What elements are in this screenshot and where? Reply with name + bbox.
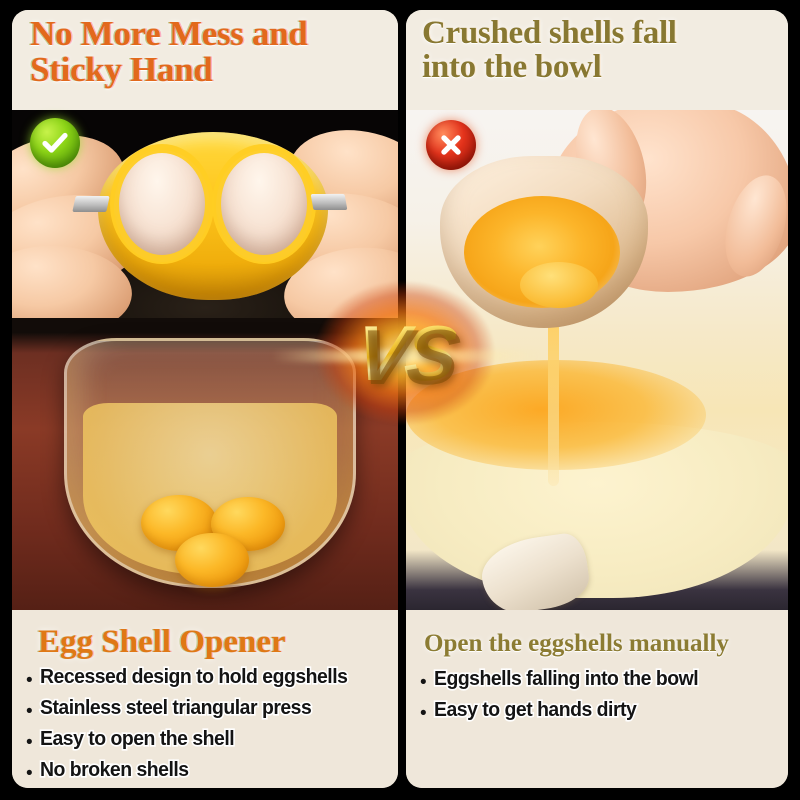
list-item: • Easy to get hands dirty (420, 699, 788, 723)
bullet-icon: • (26, 733, 33, 752)
bullet-icon: • (420, 704, 427, 723)
egg-white-drip (548, 306, 559, 486)
right-feature-list: • Eggshells falling into the bowl • Easy… (406, 668, 788, 723)
stainless-press-left (72, 196, 109, 212)
list-item-label: Stainless steel triangular press (40, 697, 311, 719)
right-footer-title: Open the eggshells manually (406, 618, 788, 668)
versus-emblem: VS (330, 288, 480, 418)
list-item: • No broken shells (26, 759, 398, 783)
list-item: • Easy to open the shell (26, 728, 398, 752)
left-footer: Egg Shell Opener • Recessed design to ho… (12, 610, 398, 788)
finger-shape (715, 168, 788, 283)
comparison-infographic: No More Mess and Sticky Hand Egg Shell O… (0, 0, 800, 800)
list-item-label: Recessed design to hold eggshells (40, 666, 347, 688)
right-footer: Open the eggshells manually • Eggshells … (406, 610, 788, 788)
stainless-press-right (311, 194, 348, 210)
left-headline: No More Mess and Sticky Hand (12, 10, 398, 89)
list-item-label: No broken shells (40, 759, 189, 781)
list-item-label: Easy to open the shell (40, 728, 234, 750)
left-feature-list: • Recessed design to hold eggshells • St… (12, 666, 398, 783)
opener-rim-right (212, 144, 316, 264)
check-icon (30, 118, 80, 168)
list-item-label: Eggshells falling into the bowl (434, 668, 698, 690)
cross-icon (426, 120, 476, 170)
list-item: • Stainless steel triangular press (26, 697, 398, 721)
left-footer-title: Egg Shell Opener (12, 618, 398, 666)
bullet-icon: • (26, 702, 33, 721)
egg-yolk (520, 262, 598, 308)
bullet-icon: • (26, 671, 33, 690)
right-header-band: Crushed shells fall into the bowl (406, 10, 788, 110)
opener-rim-left (110, 144, 214, 264)
versus-label: VS (352, 314, 458, 392)
bullet-icon: • (420, 673, 427, 692)
list-item: • Recessed design to hold eggshells (26, 666, 398, 690)
bullet-icon: • (26, 764, 33, 783)
egg-yolk (175, 533, 249, 587)
list-item: • Eggshells falling into the bowl (420, 668, 788, 692)
right-headline: Crushed shells fall into the bowl (406, 10, 788, 85)
left-header-band: No More Mess and Sticky Hand (12, 10, 398, 110)
list-item-label: Easy to get hands dirty (434, 699, 636, 721)
